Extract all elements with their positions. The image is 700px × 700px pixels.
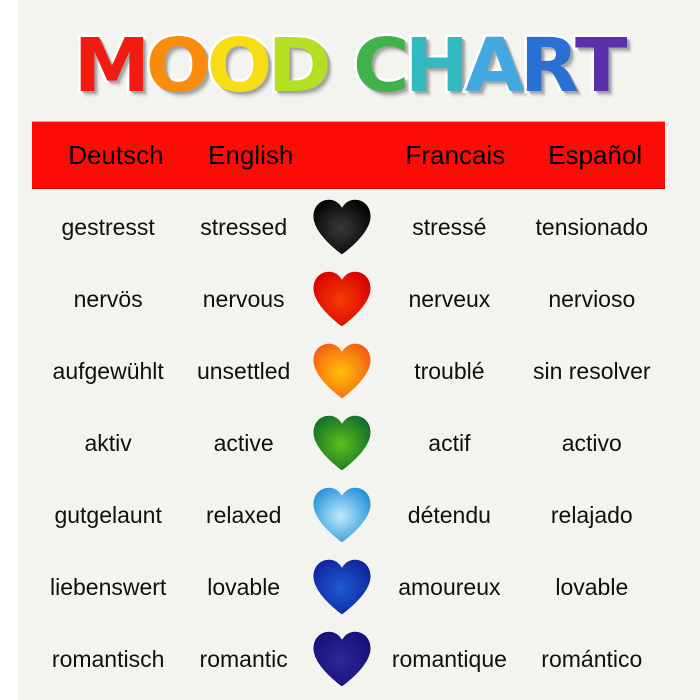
cell-heart — [303, 630, 380, 688]
table-row: aktivactiveactifactivo — [32, 407, 665, 479]
cell-deutsch: aktiv — [32, 430, 184, 457]
cell-francais: actif — [380, 430, 518, 457]
orange-heart-icon — [311, 342, 373, 400]
cell-heart — [303, 342, 380, 400]
dark-blue-heart-icon — [311, 630, 373, 688]
cell-francais: nerveux — [380, 286, 518, 313]
cell-deutsch: gutgelaunt — [32, 502, 184, 529]
title-letter-mood-3: D — [267, 29, 329, 103]
cell-english: lovable — [184, 574, 303, 601]
header-col-deutsch: Deutsch — [46, 140, 186, 171]
cell-deutsch: liebenswert — [32, 574, 184, 601]
cell-english: nervous — [184, 286, 303, 313]
cell-english: relaxed — [184, 502, 303, 529]
table-row: gestresststressedstressétensionado — [32, 191, 665, 263]
cell-espanol: sin resolver — [519, 358, 665, 385]
table-row: nervösnervousnerveuxnervioso — [32, 263, 665, 335]
header-col-english: English — [186, 140, 316, 171]
chart-title: MOODCHART — [0, 24, 700, 108]
light-blue-heart-icon — [311, 486, 373, 544]
black-heart-icon — [311, 198, 373, 256]
cell-heart — [303, 486, 380, 544]
title-letter-mood-2: O — [206, 29, 269, 103]
cell-espanol: activo — [519, 430, 665, 457]
cell-espanol: lovable — [519, 574, 665, 601]
header-col-espanol: Español — [525, 140, 665, 171]
mood-chart-page: MOODCHART Deutsch English Francais Españ… — [0, 0, 700, 700]
table-row: romantischromanticromantiqueromántico — [32, 623, 665, 695]
green-heart-icon — [311, 414, 373, 472]
title-letter-chart-3: R — [520, 29, 577, 103]
title-letter-chart-1: H — [405, 29, 467, 103]
cell-english: stressed — [184, 214, 303, 241]
cell-francais: troublé — [380, 358, 518, 385]
language-header-row: Deutsch English Francais Español — [32, 121, 665, 189]
cell-heart — [303, 270, 380, 328]
cell-heart — [303, 414, 380, 472]
cell-espanol: nervioso — [519, 286, 665, 313]
cell-heart — [303, 558, 380, 616]
title-letter-mood-0: M — [74, 29, 149, 103]
red-heart-icon — [311, 270, 373, 328]
title-letter-mood-1: O — [145, 29, 208, 103]
cell-english: active — [184, 430, 303, 457]
cell-francais: stressé — [380, 214, 518, 241]
table-row: aufgewühltunsettledtroublésin resolver — [32, 335, 665, 407]
blue-heart-icon — [311, 558, 373, 616]
title-letter-chart-4: T — [575, 29, 625, 103]
cell-english: romantic — [184, 646, 303, 673]
title-letter-chart-2: A — [465, 29, 522, 103]
cell-francais: détendu — [380, 502, 518, 529]
cell-espanol: romántico — [519, 646, 665, 673]
cell-deutsch: nervös — [32, 286, 184, 313]
cell-espanol: tensionado — [519, 214, 665, 241]
cell-deutsch: romantisch — [32, 646, 184, 673]
chart-title-letters: MOODCHART — [75, 29, 625, 103]
header-col-francais: Francais — [385, 140, 525, 171]
cell-espanol: relajado — [519, 502, 665, 529]
cell-deutsch: gestresst — [32, 214, 184, 241]
title-letter-chart-0: C — [353, 29, 407, 103]
cell-english: unsettled — [184, 358, 303, 385]
cell-francais: amoureux — [380, 574, 518, 601]
cell-heart — [303, 198, 380, 256]
cell-francais: romantique — [380, 646, 518, 673]
mood-rows: gestresststressedstressétensionadonervös… — [32, 191, 665, 695]
cell-deutsch: aufgewühlt — [32, 358, 184, 385]
table-row: liebenswertlovableamoureuxlovable — [32, 551, 665, 623]
table-row: gutgelauntrelaxeddétendurelajado — [32, 479, 665, 551]
